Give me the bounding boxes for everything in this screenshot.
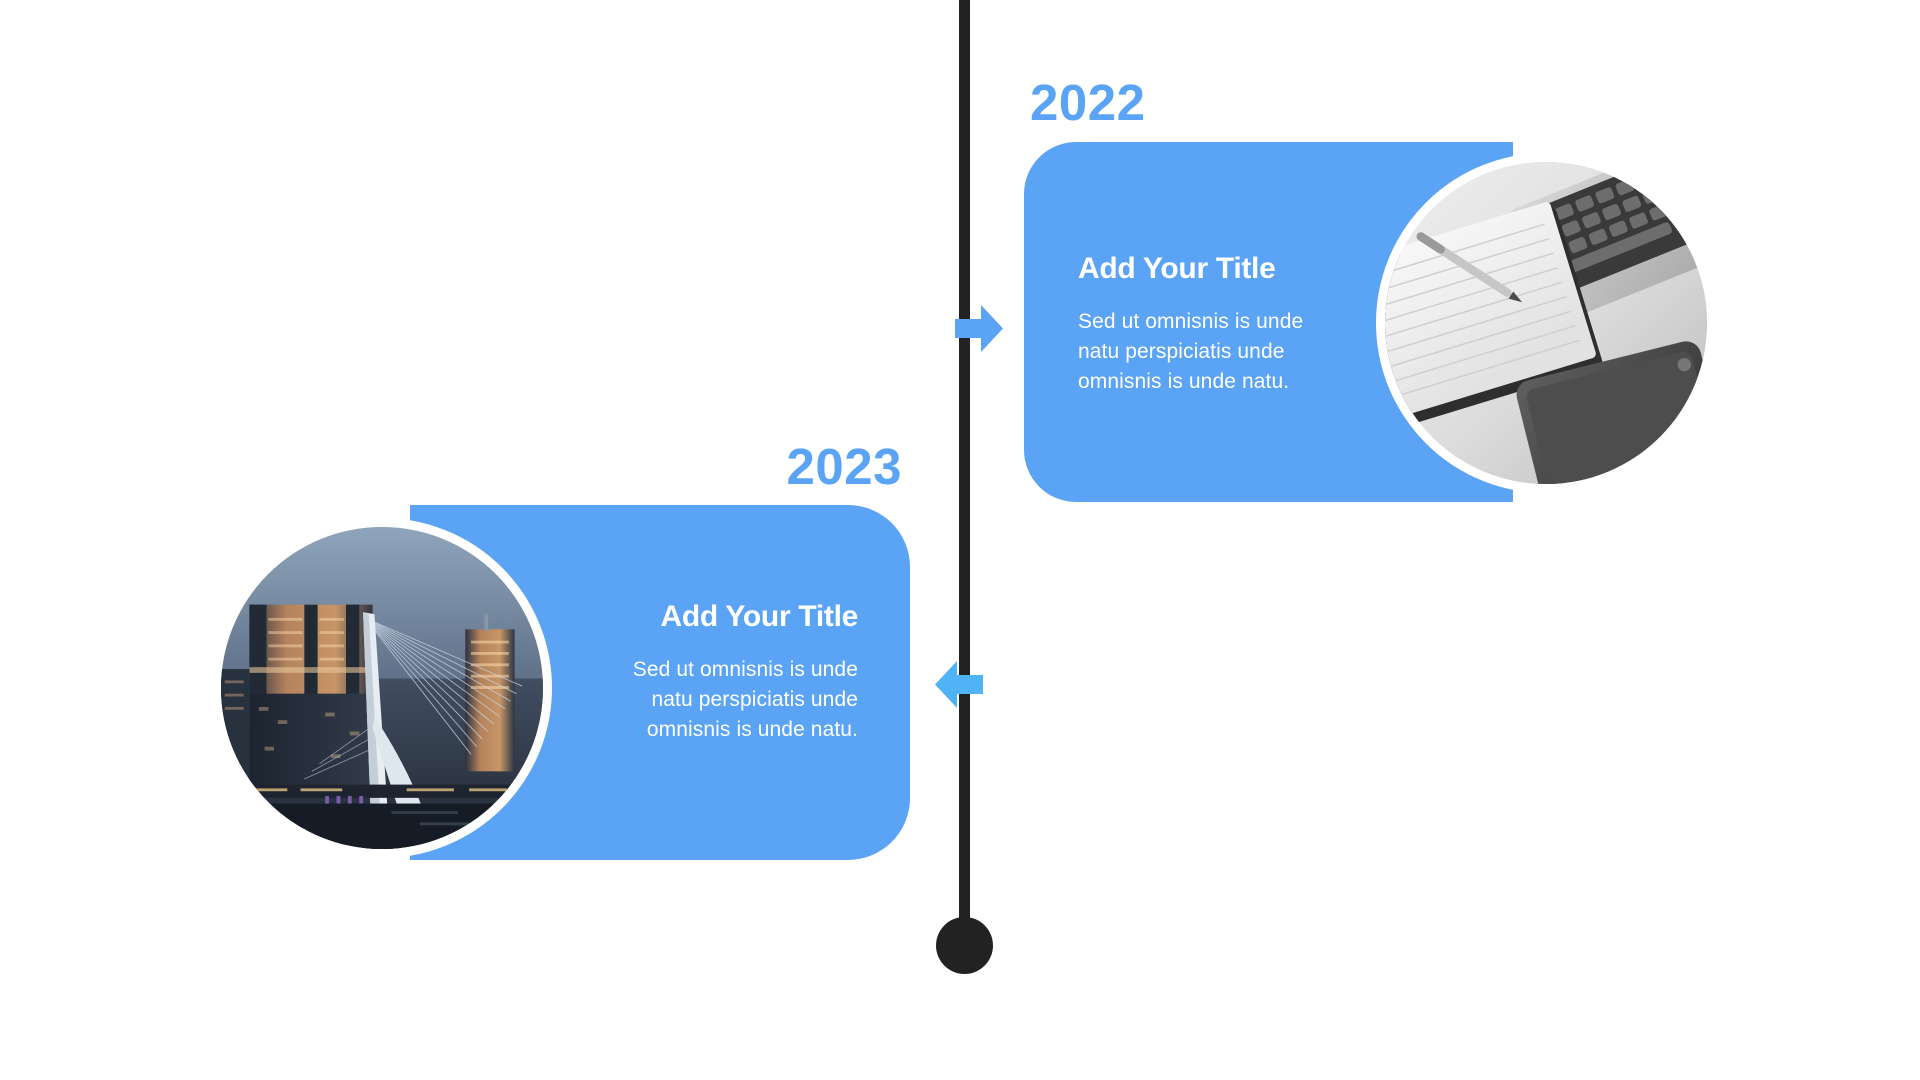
card-body-line: Sed ut omnisnis is unde [558,655,858,685]
timeline-end-dot [936,917,993,974]
timeline-slide: 2022 Add Your Title Sed ut omnisnis is u… [0,0,1920,1080]
city-skyline-bridge-photo [212,518,552,858]
card-text-block-2022: Add Your Title Sed ut omnisnis is unde n… [1078,252,1378,396]
card-body-line: omnisnis is unde natu. [558,715,858,745]
card-text-block-2023: Add Your Title Sed ut omnisnis is unde n… [558,600,858,744]
desk-workspace-photo [1376,153,1716,493]
card-title-2023: Add Your Title [558,600,858,633]
card-body-line: omnisnis is unde natu. [1078,367,1378,397]
year-label-2022: 2022 [1030,73,1145,132]
card-body-line: Sed ut omnisnis is unde [1078,307,1378,337]
card-body-line: natu perspiciatis unde [1078,337,1378,367]
card-body-2023: Sed ut omnisnis is unde natu perspiciati… [558,655,858,744]
card-title-2022: Add Your Title [1078,252,1378,285]
card-body-line: natu perspiciatis unde [558,685,858,715]
year-label-2023: 2023 [632,437,902,496]
vertical-timeline-axis [959,0,970,940]
card-body-2022: Sed ut omnisnis is unde natu perspiciati… [1078,307,1378,396]
